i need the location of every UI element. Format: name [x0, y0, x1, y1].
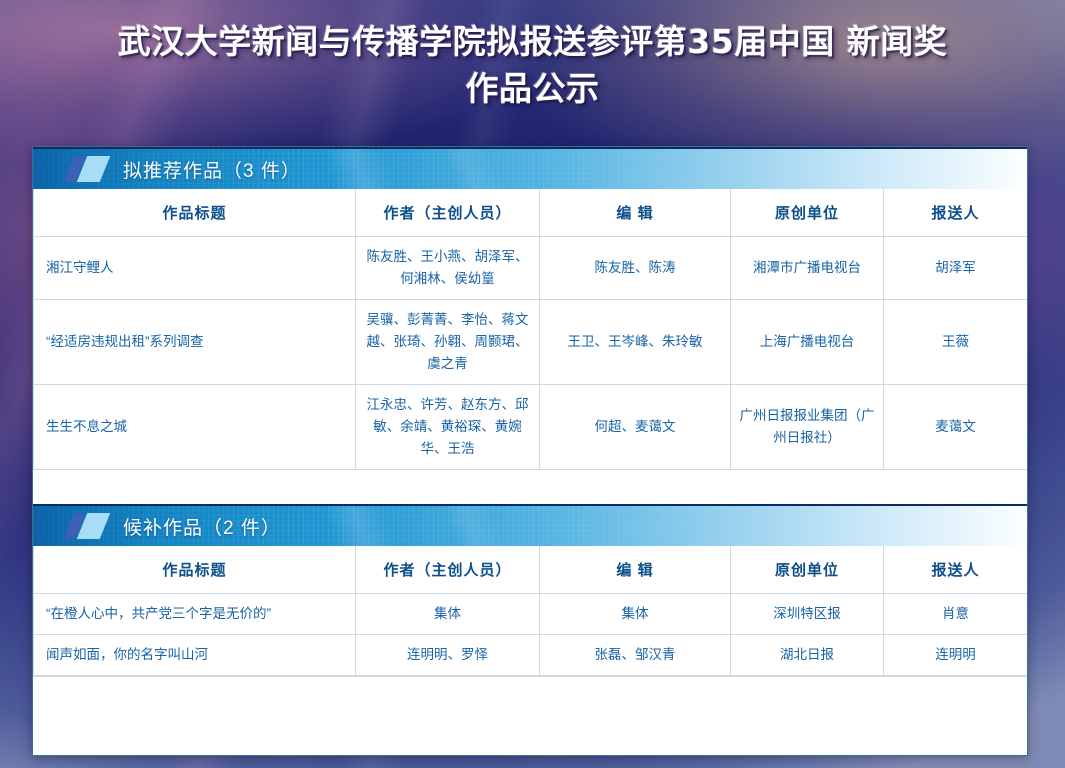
cell-submitter: 连明明 — [884, 635, 1028, 676]
column-header-submitter: 报送人 — [884, 546, 1028, 594]
cell-submitter: 胡泽军 — [884, 237, 1028, 300]
table-recommended-works: 作品标题 作者（主创人员） 编 辑 原创单位 报送人 湘江守鲤人 陈友胜、王小燕… — [33, 189, 1028, 470]
cell-submitter: 王薇 — [884, 300, 1028, 385]
table-row[interactable]: 闻声如面，你的名字叫山河 连明明、罗怿 张磊、邹汉青 湖北日报 连明明 — [34, 635, 1028, 676]
cell-unit: 湘潭市广播电视台 — [731, 237, 884, 300]
cell-unit: 广州日报报业集团（广州日报社） — [731, 385, 884, 470]
table-header-row: 作品标题 作者（主创人员） 编 辑 原创单位 报送人 — [34, 546, 1028, 594]
column-header-editors: 编 辑 — [540, 189, 731, 237]
cell-title: “在橙人心中，共产党三个字是无价的” — [34, 594, 356, 635]
column-header-authors: 作者（主创人员） — [356, 189, 540, 237]
column-header-title: 作品标题 — [34, 189, 356, 237]
column-header-unit: 原创单位 — [731, 546, 884, 594]
cell-editors: 陈友胜、陈涛 — [540, 237, 731, 300]
page-title-line-2: 作品公示 — [40, 65, 1025, 112]
cell-submitter: 麦蔼文 — [884, 385, 1028, 470]
cell-authors: 江永忠、许芳、赵东方、邱敏、余靖、黄裕琛、黄婉华、王浩 — [356, 385, 540, 470]
content-panel: 拟推荐作品（3 件） 作品标题 作者（主创人员） 编 辑 原创单位 报送人 湘江… — [32, 146, 1028, 756]
cell-submitter: 肖意 — [884, 594, 1028, 635]
table-row[interactable]: 生生不息之城 江永忠、许芳、赵东方、邱敏、余靖、黄裕琛、黄婉华、王浩 何超、麦蔼… — [34, 385, 1028, 470]
page-title-line-1: 武汉大学新闻与传播学院拟报送参评第35届中国 新闻奖 — [40, 18, 1025, 65]
section-header-recommended: 拟推荐作品（3 件） — [33, 147, 1027, 189]
cell-editors: 何超、麦蔼文 — [540, 385, 731, 470]
cell-title: 湘江守鲤人 — [34, 237, 356, 300]
cell-title: 生生不息之城 — [34, 385, 356, 470]
cell-authors: 连明明、罗怿 — [356, 635, 540, 676]
section-header-backup: 候补作品（2 件） — [33, 504, 1027, 546]
cell-editors: 张磊、邹汉青 — [540, 635, 731, 676]
cell-unit: 上海广播电视台 — [731, 300, 884, 385]
parallelogram-icon — [69, 156, 109, 182]
cell-unit: 湖北日报 — [731, 635, 884, 676]
table-row[interactable]: “在橙人心中，共产党三个字是无价的” 集体 集体 深圳特区报 肖意 — [34, 594, 1028, 635]
parallelogram-icon — [69, 513, 109, 539]
cell-title: “经适房违规出租”系列调查 — [34, 300, 356, 385]
cell-authors: 集体 — [356, 594, 540, 635]
page-title: 武汉大学新闻与传播学院拟报送参评第35届中国 新闻奖 作品公示 — [0, 18, 1065, 112]
column-header-authors: 作者（主创人员） — [356, 546, 540, 594]
table-backup-works: 作品标题 作者（主创人员） 编 辑 原创单位 报送人 “在橙人心中，共产党三个字… — [33, 546, 1028, 676]
column-header-unit: 原创单位 — [731, 189, 884, 237]
table-row[interactable]: 湘江守鲤人 陈友胜、王小燕、胡泽军、何湘林、侯幼篁 陈友胜、陈涛 湘潭市广播电视… — [34, 237, 1028, 300]
table-row[interactable]: “经适房违规出租”系列调查 吴骥、彭菁菁、李怡、蒋文越、张琦、孙翱、周颢珺、虞之… — [34, 300, 1028, 385]
cell-editors: 集体 — [540, 594, 731, 635]
section-header-label-backup: 候补作品（2 件） — [123, 513, 281, 540]
cell-title: 闻声如面，你的名字叫山河 — [34, 635, 356, 676]
section-gap — [33, 470, 1027, 504]
cell-editors: 王卫、王岑峰、朱玲敏 — [540, 300, 731, 385]
section-header-label-recommended: 拟推荐作品（3 件） — [123, 156, 301, 183]
cell-authors: 吴骥、彭菁菁、李怡、蒋文越、张琦、孙翱、周颢珺、虞之青 — [356, 300, 540, 385]
cell-authors: 陈友胜、王小燕、胡泽军、何湘林、侯幼篁 — [356, 237, 540, 300]
column-header-title: 作品标题 — [34, 546, 356, 594]
cell-unit: 深圳特区报 — [731, 594, 884, 635]
column-header-submitter: 报送人 — [884, 189, 1028, 237]
table-header-row: 作品标题 作者（主创人员） 编 辑 原创单位 报送人 — [34, 189, 1028, 237]
page-root: 武汉大学新闻与传播学院拟报送参评第35届中国 新闻奖 作品公示 拟推荐作品（3 … — [0, 0, 1065, 768]
column-header-editors: 编 辑 — [540, 546, 731, 594]
panel-footer-blank — [33, 676, 1027, 756]
